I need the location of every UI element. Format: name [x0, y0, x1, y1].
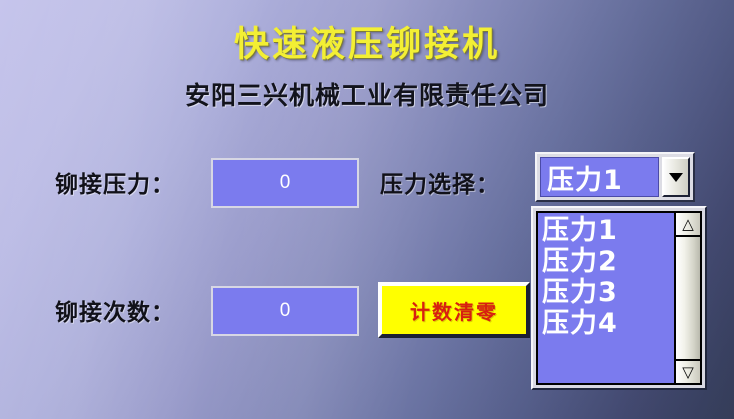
company-subtitle: 安阳三兴机械工业有限责任公司 — [0, 76, 734, 112]
riveting-pressure-label: 铆接压力： — [55, 165, 175, 199]
riveting-count-label: 铆接次数： — [55, 293, 175, 327]
riveting-pressure-value[interactable]: 0 — [211, 158, 359, 208]
dropdown-scrollbar[interactable]: △ ▽ — [674, 213, 700, 383]
scroll-up-button[interactable]: △ — [676, 213, 700, 237]
pressure-select-label: 压力选择： — [380, 165, 500, 199]
chevron-down-icon — [669, 173, 683, 182]
list-item[interactable]: 压力1 — [542, 215, 674, 246]
scroll-down-button[interactable]: ▽ — [676, 359, 700, 383]
list-item[interactable]: 压力4 — [542, 308, 674, 339]
list-item[interactable]: 压力2 — [542, 246, 674, 277]
reset-counter-button[interactable]: 计数清零 — [378, 282, 530, 338]
pressure-select-toggle-button[interactable] — [662, 157, 690, 197]
pressure-select-option-list: 压力1 压力2 压力3 压力4 — [538, 213, 674, 383]
pressure-select-dropdown[interactable]: 压力1 压力2 压力3 压力4 △ ▽ — [531, 206, 707, 390]
scrollbar-thumb[interactable] — [676, 237, 700, 359]
triangle-up-icon: △ — [682, 217, 694, 232]
riveting-count-value[interactable]: 0 — [211, 286, 359, 336]
hmi-screen: 快速液压铆接机 安阳三兴机械工业有限责任公司 铆接压力： 0 铆接次数： 0 压… — [0, 0, 734, 419]
reset-counter-button-label: 计数清零 — [410, 296, 498, 325]
pressure-select-value[interactable]: 压力1 — [540, 157, 659, 197]
page-title: 快速液压铆接机 — [0, 16, 734, 67]
pressure-select-combobox[interactable]: 压力1 — [535, 152, 695, 202]
triangle-down-icon: ▽ — [682, 365, 694, 380]
list-item[interactable]: 压力3 — [542, 277, 674, 308]
pressure-select-dropdown-inner: 压力1 压力2 压力3 压力4 △ ▽ — [536, 211, 702, 385]
